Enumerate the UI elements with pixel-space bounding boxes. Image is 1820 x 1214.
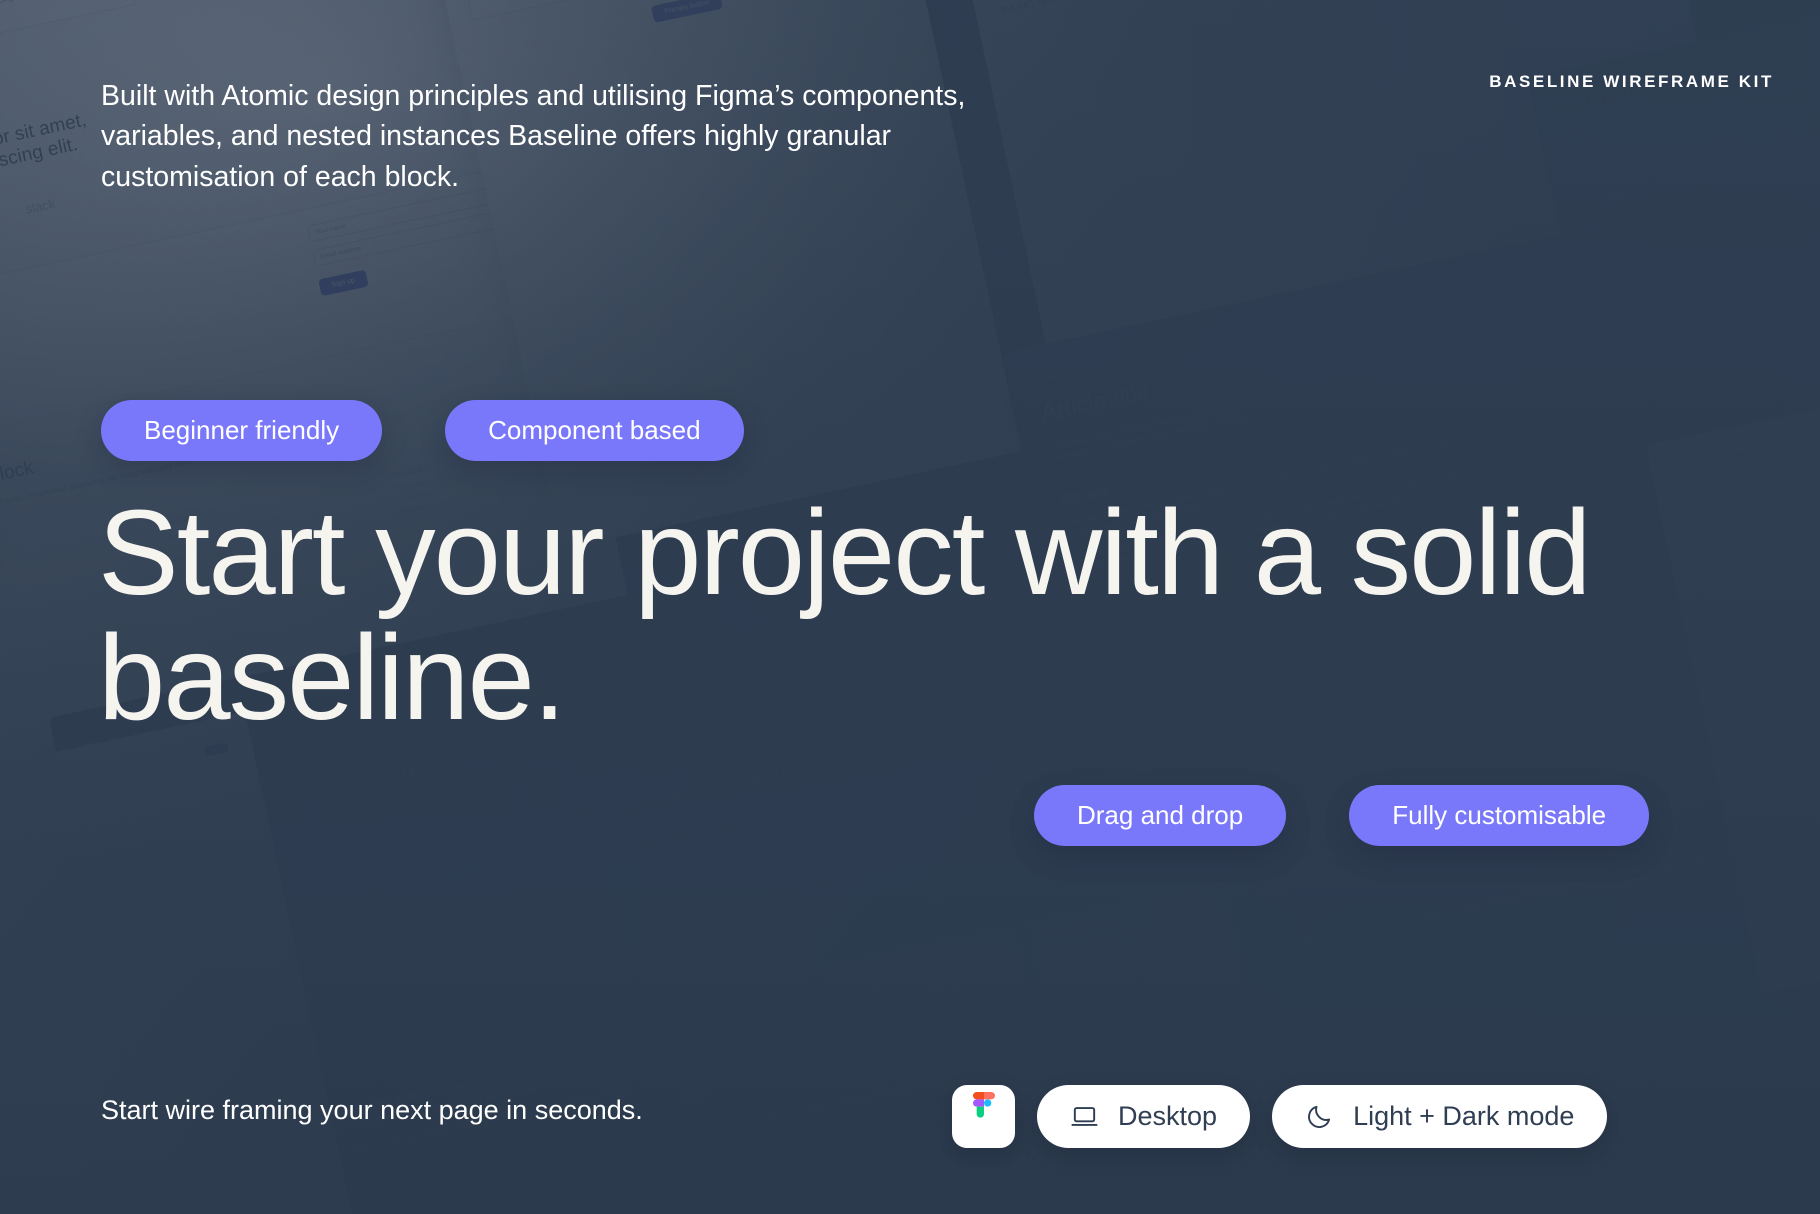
laptop-icon <box>1070 1102 1099 1131</box>
feature-pill-component-based[interactable]: Component based <box>445 400 743 461</box>
device-button-label: Desktop <box>1118 1101 1217 1132</box>
bottom-action-bar: Desktop Light + Dark mode <box>952 1085 1607 1148</box>
moon-icon <box>1305 1102 1334 1131</box>
intro-paragraph: Built with Atomic design principles and … <box>101 76 1061 197</box>
device-button-desktop[interactable]: Desktop <box>1037 1085 1250 1148</box>
feature-pill-beginner-friendly[interactable]: Beginner friendly <box>101 400 382 461</box>
sub-caption: Start wire framing your next page in sec… <box>101 1095 643 1126</box>
theme-button-label: Light + Dark mode <box>1353 1101 1574 1132</box>
figma-logo-icon <box>969 1092 999 1141</box>
feature-pill-row-top: Beginner friendly Component based <box>101 400 744 461</box>
feature-pill-row-mid: Drag and drop Fully customisable <box>1034 785 1649 846</box>
hero-banner: Name Lorem ipsum dolor sit amet, consect… <box>0 0 1820 1214</box>
figma-logo-badge[interactable] <box>952 1085 1015 1148</box>
theme-button-light-dark-mode[interactable]: Light + Dark mode <box>1272 1085 1607 1148</box>
feature-pill-fully-customisable[interactable]: Fully customisable <box>1349 785 1649 846</box>
feature-pill-drag-and-drop[interactable]: Drag and drop <box>1034 785 1286 846</box>
kit-name-label: BASELINE WIREFRAME KIT <box>1489 72 1774 92</box>
hero-content: BASELINE WIREFRAME KIT Built with Atomic… <box>0 0 1820 1214</box>
page-title: Start your project with a solid baseline… <box>98 490 1778 740</box>
